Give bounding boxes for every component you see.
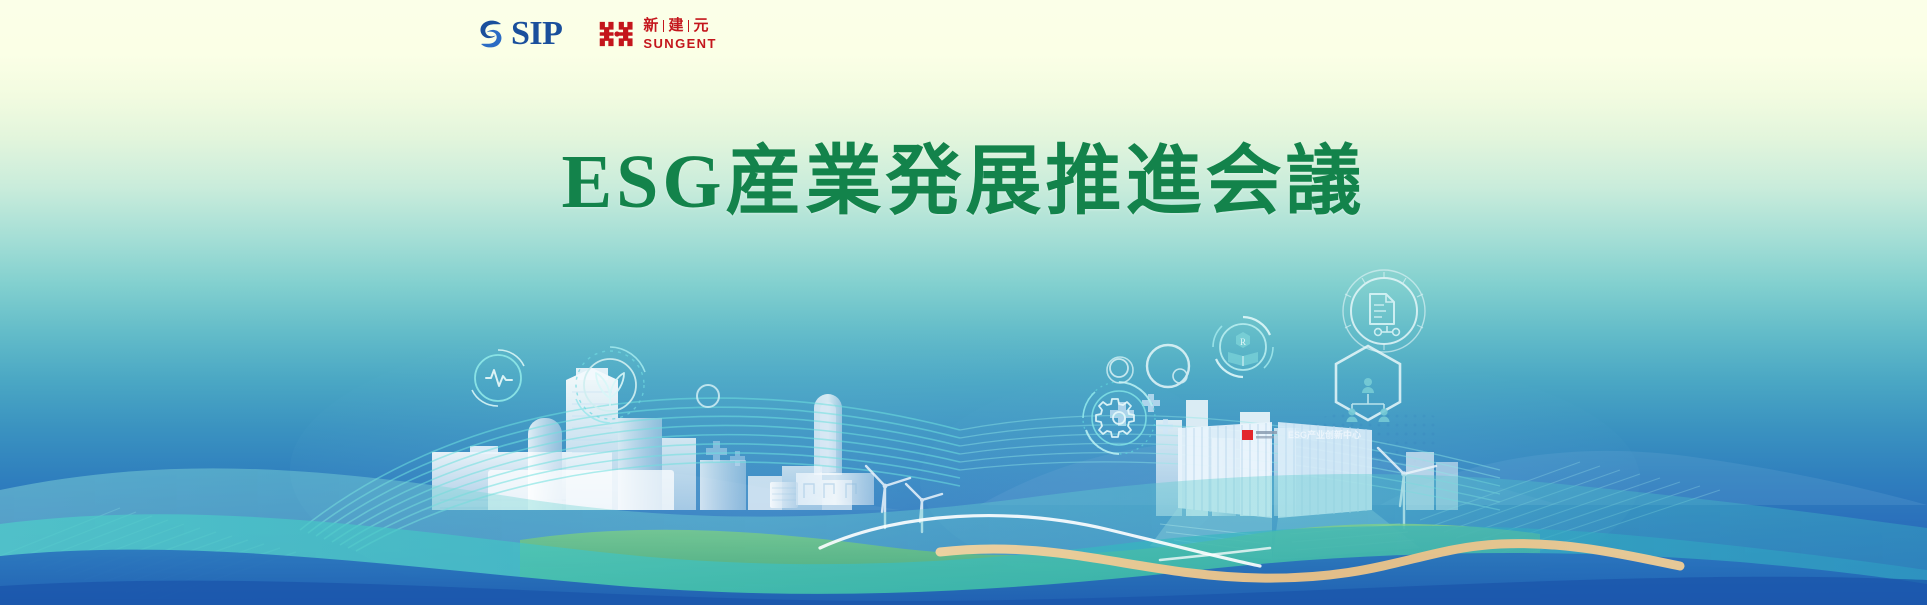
- svg-text:ESG产业创新中心: ESG产业创新中心: [1288, 429, 1361, 440]
- logo-row: SIP 新 建 元 SUNGENT: [472, 15, 717, 53]
- sungent-char-2: 建: [668, 19, 684, 34]
- sip-swirl-mark: [472, 15, 510, 53]
- illustration-artwork: ESG产业创新中心: [0, 0, 1927, 605]
- sip-logo-text: SIP: [511, 17, 562, 51]
- sungent-char-1: 新: [643, 19, 659, 34]
- document-icon: [1343, 270, 1425, 352]
- facade-logo-mark: [1242, 430, 1253, 440]
- esg-conference-banner: ESG产业创新中心: [0, 0, 1927, 605]
- sip-logo[interactable]: SIP: [472, 15, 562, 53]
- sungent-chinese-chars: 新 建 元: [643, 19, 716, 34]
- facade-sign-text: ESG产业创新中心: [1288, 429, 1361, 440]
- logo-divider: [663, 20, 664, 32]
- svg-text:R: R: [1240, 337, 1246, 347]
- sungent-english-text: SUNGENT: [643, 37, 716, 50]
- sungent-logo[interactable]: 新 建 元 SUNGENT: [598, 18, 716, 50]
- logo-divider: [688, 20, 689, 32]
- sungent-seal-mark: [598, 18, 636, 50]
- sungent-char-3: 元: [693, 19, 709, 34]
